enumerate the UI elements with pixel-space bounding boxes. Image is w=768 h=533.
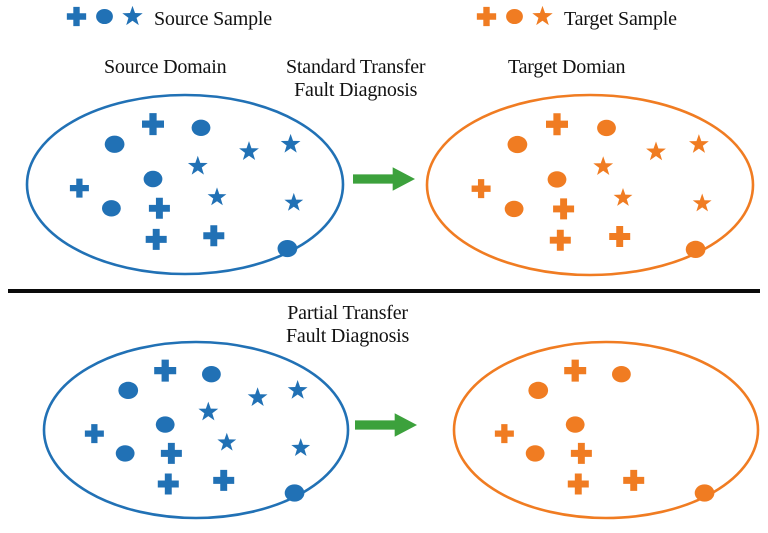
cross-icon: [495, 424, 514, 443]
section-divider: [8, 289, 760, 293]
cross-icon: [161, 443, 182, 464]
circle-icon: [526, 445, 545, 461]
star-icon: [122, 6, 143, 32]
circle-icon: [566, 416, 585, 432]
cross-icon: [142, 113, 164, 135]
cross-icon: [553, 198, 574, 219]
star-icon: [281, 134, 301, 153]
cross-icon: [564, 360, 586, 382]
right-arrow-icon: [355, 412, 417, 438]
cross-icon: [472, 179, 491, 198]
circle-icon: [612, 366, 631, 382]
cross-icon: [154, 360, 176, 382]
cross-icon: [146, 229, 167, 250]
cross-icon: [609, 226, 630, 247]
panel-source-domain-standard: [25, 93, 345, 276]
circle-icon: [202, 366, 221, 382]
cross-icon: [70, 179, 89, 198]
circle-icon: [192, 120, 211, 136]
circle-icon: [118, 382, 138, 399]
star-icon: [198, 402, 218, 421]
circle-icon: [548, 171, 567, 187]
caption-source-domain: Source Domain: [104, 56, 226, 79]
cross-icon: [203, 225, 224, 246]
star-icon: [239, 141, 259, 160]
circle-icon: [285, 484, 305, 501]
star-icon: [646, 141, 666, 160]
star-icon: [693, 194, 712, 212]
star-icon: [217, 433, 236, 451]
legend-source-label: Source Sample: [154, 8, 272, 31]
cross-icon: [571, 443, 592, 464]
panel-target-domain-standard: [425, 93, 755, 277]
circle-icon: [144, 171, 163, 187]
circle-icon: [504, 6, 525, 32]
circle-icon: [105, 136, 125, 153]
right-arrow-icon: [355, 413, 417, 436]
caption-target-domian: Target Domian: [508, 56, 625, 79]
legend-target-sample: Target Sample: [476, 6, 677, 32]
circle-icon: [278, 240, 298, 257]
star-icon: [208, 187, 227, 205]
circle-icon: [116, 445, 135, 461]
cross-icon: [623, 470, 644, 491]
circle-icon: [94, 6, 115, 32]
star-icon: [614, 188, 633, 206]
cross-icon: [213, 470, 234, 491]
right-arrow-icon: [353, 167, 415, 190]
circle-icon: [695, 484, 715, 501]
cross-icon: [85, 424, 104, 443]
cross-icon: [546, 113, 568, 135]
cross-icon: [158, 474, 179, 495]
cross-icon: [476, 6, 497, 32]
cross-icon: [550, 230, 571, 251]
star-icon: [248, 387, 268, 406]
star-icon: [532, 6, 553, 32]
cross-icon: [568, 474, 589, 495]
circle-icon: [597, 120, 616, 136]
circle-icon: [156, 416, 175, 432]
star-icon: [593, 156, 613, 175]
right-arrow-icon: [353, 166, 415, 192]
legend-target-label: Target Sample: [564, 8, 677, 31]
circle-icon: [528, 382, 548, 399]
circle-icon: [505, 201, 524, 217]
panel-target-domain-partial: [452, 340, 760, 520]
star-icon: [284, 193, 303, 211]
legend-source-sample: Source Sample: [66, 6, 272, 32]
star-icon: [188, 156, 208, 175]
caption-standard-transfer-line1: Standard Transfer: [286, 56, 425, 79]
star-icon: [291, 438, 310, 456]
cross-icon: [66, 6, 87, 32]
panel-source-domain-partial: [42, 340, 350, 520]
diagram-canvas: Source Sample Target Sample Source Domai…: [0, 0, 768, 533]
cross-icon: [149, 198, 170, 219]
circle-icon: [102, 200, 121, 216]
star-icon: [689, 134, 709, 153]
caption-partial-transfer-line1: Partial Transfer: [286, 302, 409, 325]
circle-icon: [686, 241, 706, 258]
circle-icon: [508, 136, 528, 153]
star-icon: [288, 380, 308, 399]
